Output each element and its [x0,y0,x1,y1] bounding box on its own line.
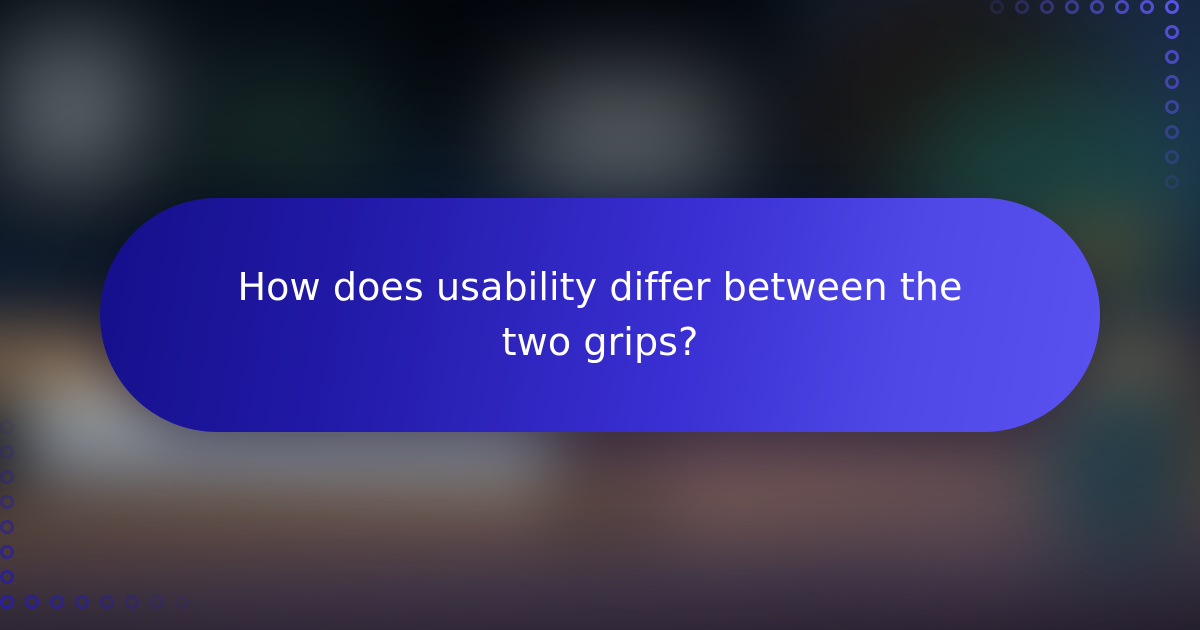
question-card: How does usability differ between the tw… [100,198,1100,432]
slide-canvas: How does usability differ between the tw… [0,0,1200,630]
question-text: How does usability differ between the tw… [110,260,1090,371]
